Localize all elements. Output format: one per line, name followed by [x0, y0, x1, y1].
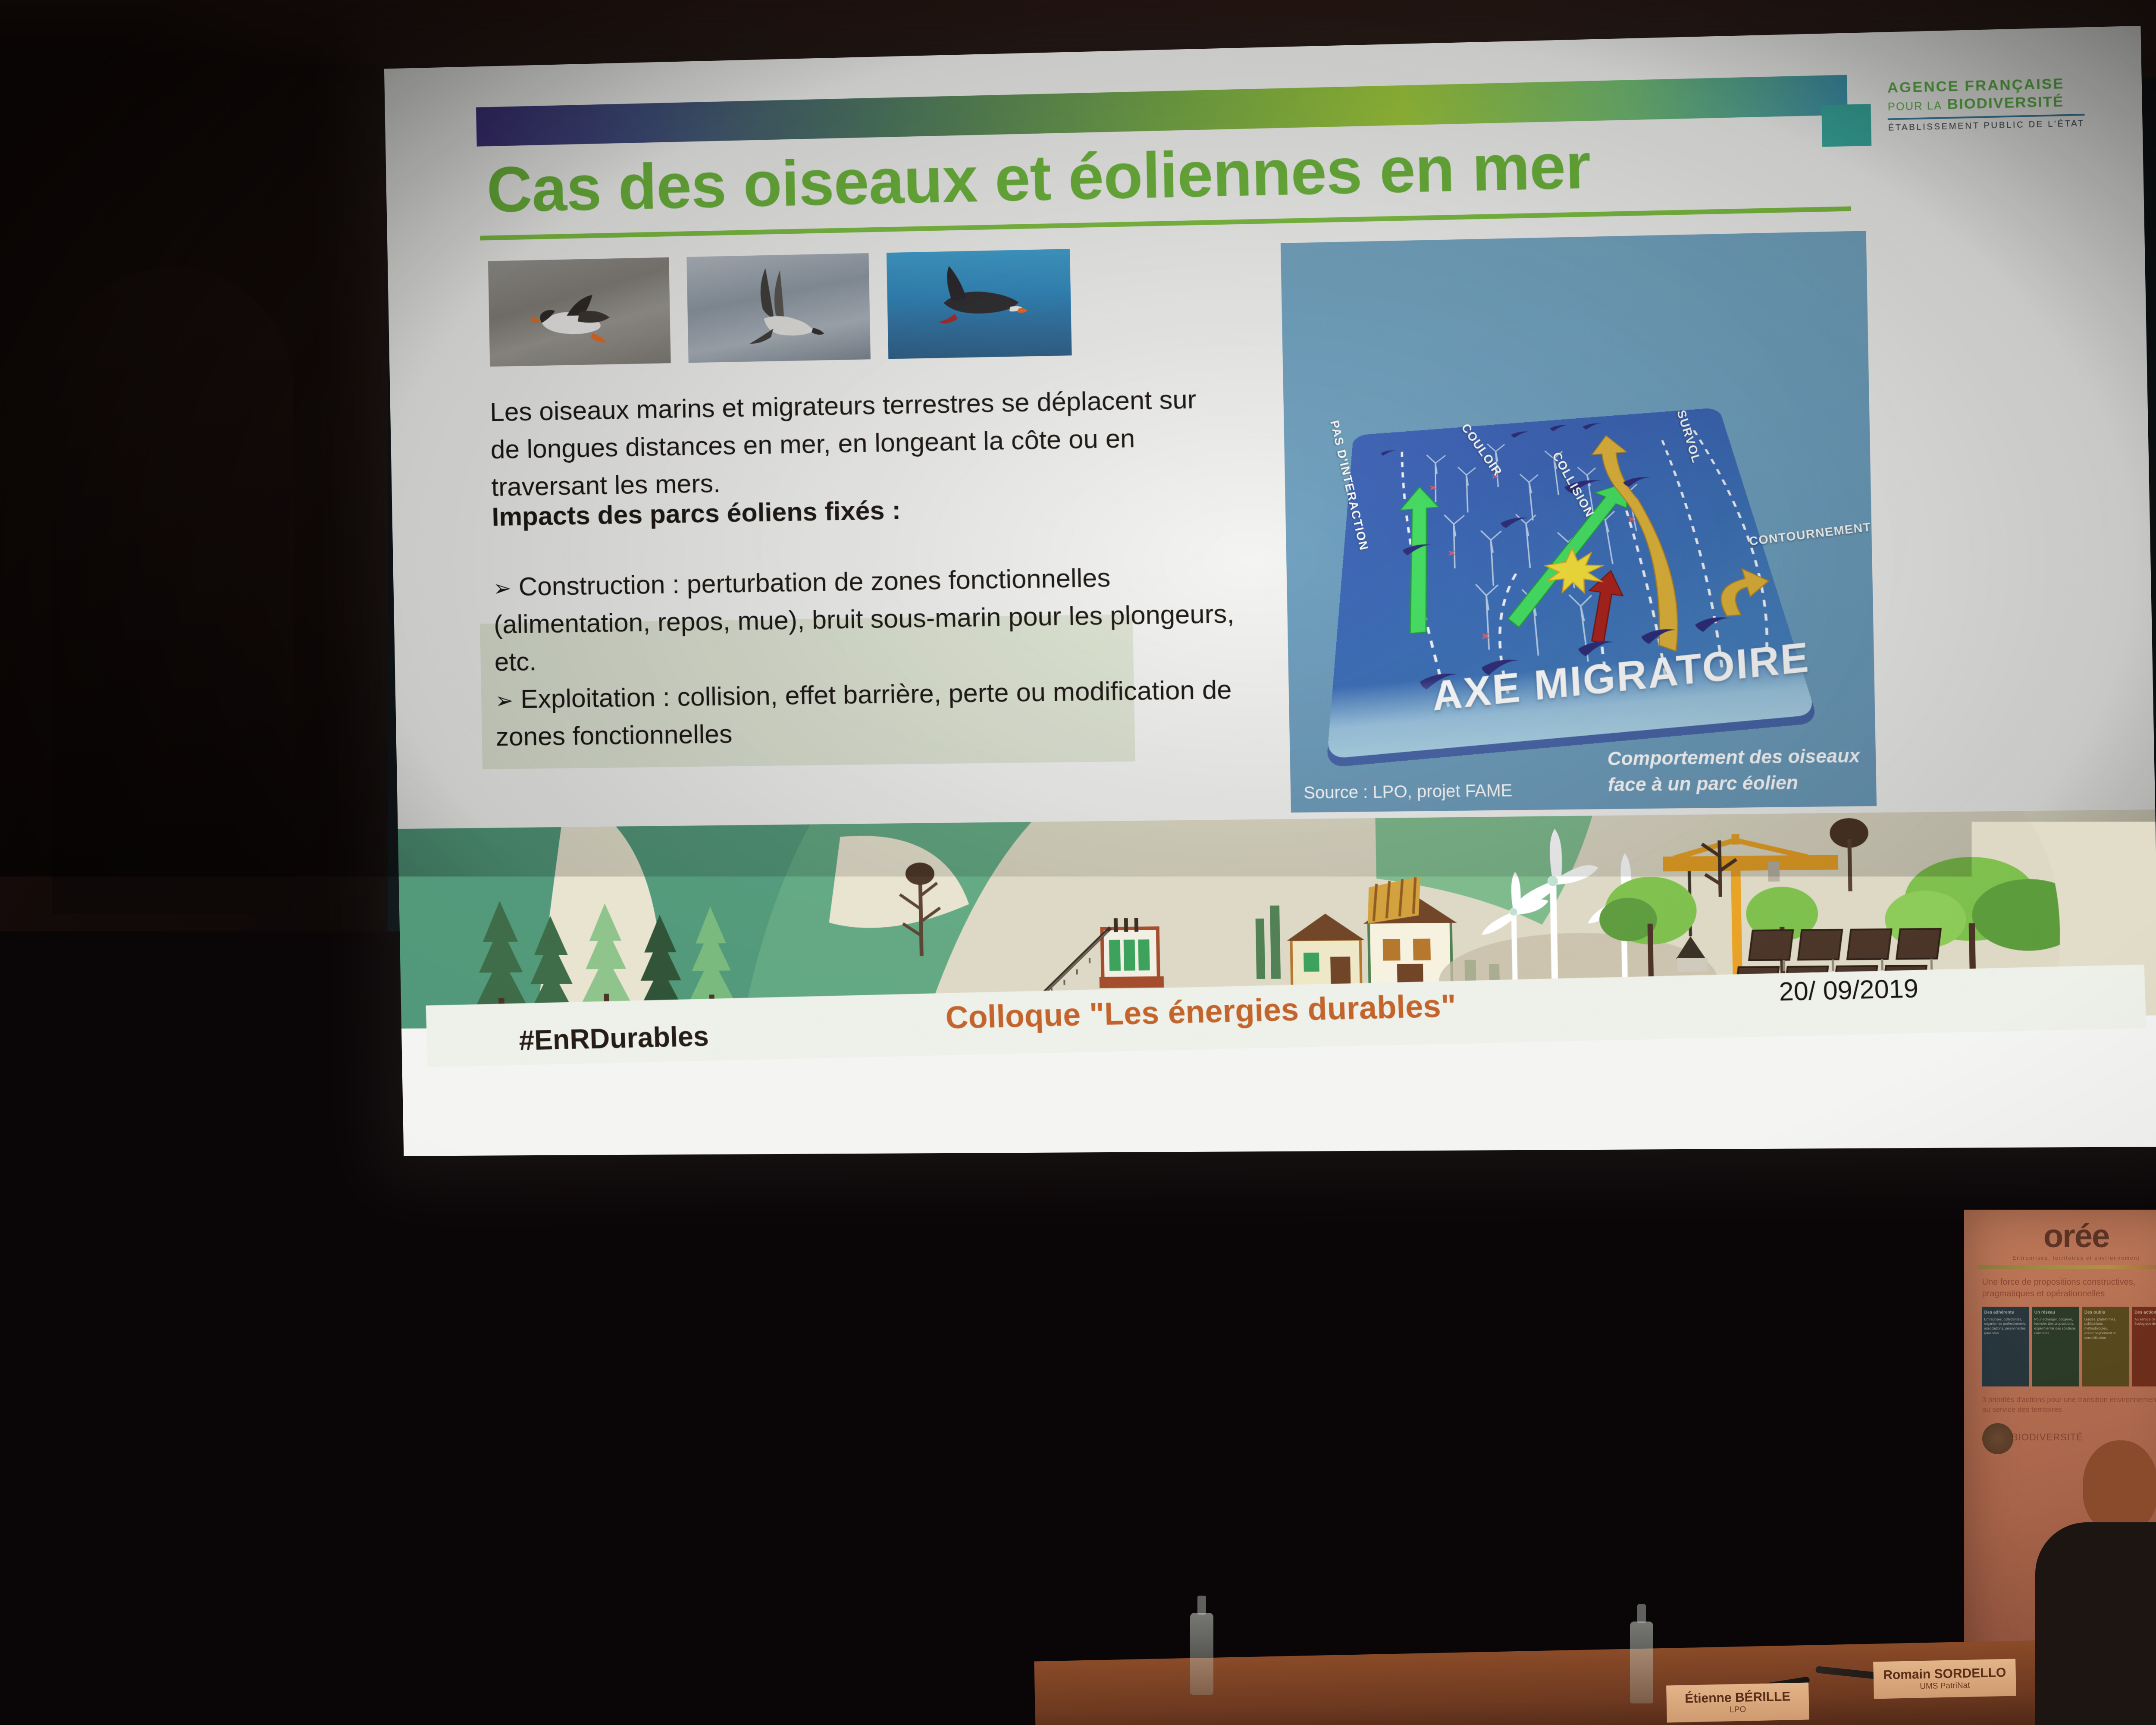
shearwater-icon [725, 263, 837, 357]
intro-paragraph: Les oiseaux marins et migrateurs terrest… [489, 380, 1217, 506]
puffin-icon [529, 292, 635, 349]
logo-line-2-small: POUR LA [1888, 100, 1943, 113]
oree-col-4-title: Des actions [2134, 1310, 2156, 1316]
wall-arch [52, 267, 293, 914]
museum-banner: MUSÉUM NATIONAL D'HISTOIRE NATURELLE [110, 1289, 313, 1660]
photo-shearwater-grey [686, 253, 871, 363]
oree-footer-text: 3 priorités d'actions pour une transitio… [1982, 1395, 2156, 1415]
photo-puffin-grey [488, 257, 671, 367]
wind-turbine-field [1327, 408, 1816, 759]
projection-screen: AGENCE FRANÇAISE POUR LA BIODIVERSITÉ ÉT… [384, 26, 2156, 1156]
oree-brand: orée [1964, 1217, 2156, 1255]
oree-col-1-title: Des adhérents [1984, 1310, 2027, 1316]
diagram-caption-line-2: face à un parc éolien [1608, 769, 1861, 798]
oree-column-2: Un réseauPour échanger, coopérer, formul… [2032, 1307, 2079, 1386]
conference-hall-scene: AGENCE FRANÇAISE POUR LA BIODIVERSITÉ ÉT… [0, 0, 2156, 1725]
bullet-marker-icon-2: ➢ [495, 688, 514, 713]
bullet-text-exploitation: Exploitation : collision, effet barrière… [495, 675, 1232, 752]
panelist-3-head [1826, 1462, 1878, 1524]
oree-headline: Une force de propositions constructives,… [1982, 1276, 2156, 1300]
agence-francaise-biodiversite-logo: AGENCE FRANÇAISE POUR LA BIODIVERSITÉ ÉT… [1887, 75, 2085, 133]
panelist-2 [1587, 1479, 1729, 1663]
oree-column-4: Des actionsAu service de la transition é… [2132, 1307, 2156, 1386]
oree-col-1-body: Entreprises, collectivités, organismes p… [1984, 1317, 2026, 1335]
panelist-1-head [1225, 1535, 1276, 1598]
bullet-text-construction: Construction : perturbation de zones fon… [494, 563, 1235, 677]
bullet-item-construction: ➢ Construction : perturbation de zones f… [493, 556, 1277, 681]
footer-date: 20/ 09/2019 [1779, 973, 1919, 1007]
speaker-head [2083, 1440, 2156, 1533]
slide-title: Cas des oiseaux et éoliennes en mer [486, 128, 1591, 227]
logo-line-3: ÉTABLISSEMENT PUBLIC DE L'ÉTAT [1888, 119, 2085, 133]
diagram-source: Source : LPO, projet FAME [1304, 781, 1513, 803]
logo-line-2-bold: BIODIVERSITÉ [1947, 94, 2064, 113]
header-gradient-bar [476, 75, 1848, 147]
oree-logo: orée Entreprises, territoires et environ… [1964, 1217, 2156, 1265]
panelist-3 [1781, 1462, 1923, 1646]
oree-col-2-body: Pour échanger, coopérer, formuler des pr… [2034, 1317, 2076, 1335]
diagram-sea-plane [1327, 408, 1816, 759]
museum-seal-icon [179, 1416, 244, 1481]
oree-column-3: Des outilsGuides, plateformes, publicati… [2082, 1307, 2129, 1386]
diagram-caption: Comportement des oiseaux face à un parc … [1607, 743, 1861, 798]
oree-col-4-body: Au service de la transition écologique d… [2134, 1317, 2156, 1326]
puffin-flight-icon [926, 262, 1034, 345]
bird-behaviour-diagram: PAS D'INTERACTION COULOIR COLLISION SURV… [1281, 231, 1877, 812]
oree-col-2-title: Un réseau [2034, 1310, 2077, 1316]
oree-divider [1977, 1265, 2156, 1269]
panelist-2-head [1632, 1479, 1684, 1542]
footer-hashtag: #EnRDurables [518, 1019, 709, 1056]
oree-col-3-title: Des outils [2084, 1310, 2127, 1316]
impacts-bullet-list: ➢ Construction : perturbation de zones f… [493, 556, 1278, 756]
museum-banner-title: MUSÉUM [161, 1494, 262, 1515]
oree-partner-icon [1982, 1423, 2013, 1454]
oree-column-1: Des adhérentsEntreprises, collectivités,… [1982, 1307, 2029, 1386]
bullet-marker-icon: ➢ [493, 576, 511, 601]
presentation-slide: AGENCE FRANÇAISE POUR LA BIODIVERSITÉ ÉT… [384, 26, 2156, 1156]
front-bench-rail [0, 1673, 2156, 1725]
museum-banner-subtitle: NATIONAL D'HISTOIRE NATURELLE [118, 1518, 304, 1526]
oree-column-group: Des adhérentsEntreprises, collectivités,… [1982, 1307, 2156, 1386]
label-contournement: CONTOURNEMENT [1749, 520, 1872, 549]
photo-puffin-blue [887, 249, 1072, 359]
bird-photo-strip [488, 249, 1072, 367]
oree-tagline: Entreprises, territoires et environnemen… [1964, 1255, 2156, 1261]
oree-col-3-body: Guides, plateformes, publications, métho… [2084, 1317, 2116, 1340]
diagram-caption-line-1: Comportement des oiseaux [1607, 743, 1860, 772]
logo-swatch [1822, 104, 1872, 147]
bullet-item-exploitation: ➢ Exploitation : collision, effet barriè… [495, 670, 1279, 756]
